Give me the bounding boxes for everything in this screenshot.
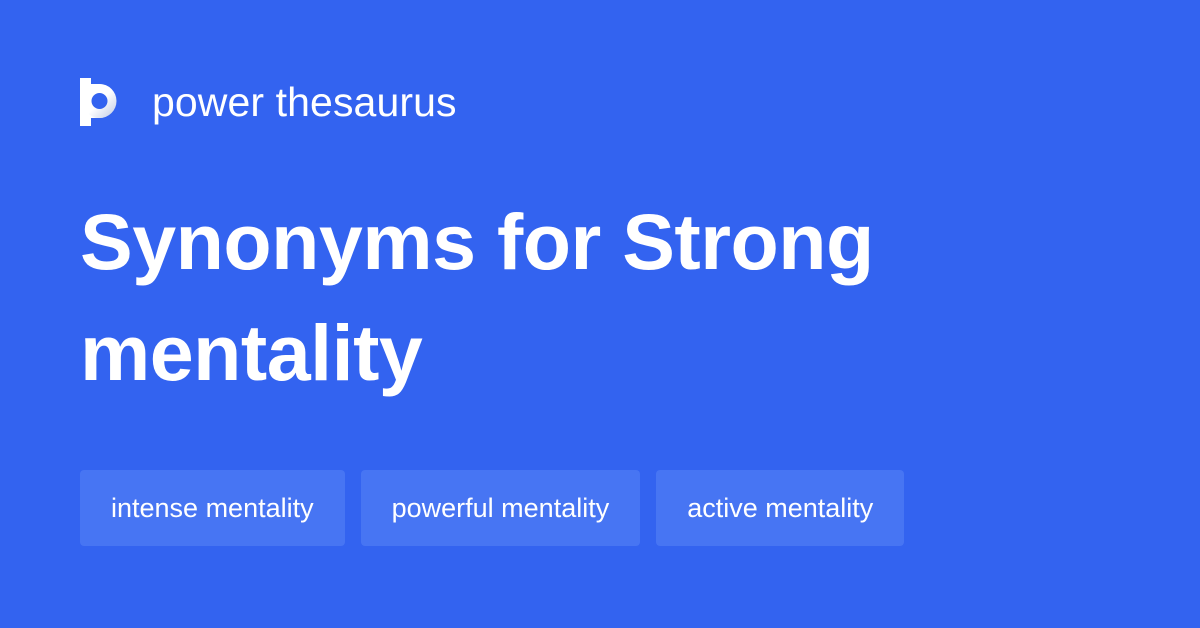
synonym-share-card: power thesaurus Synonyms for Strong ment… — [0, 0, 1200, 628]
synonym-chip[interactable]: active mentality — [656, 470, 904, 546]
synonym-chip[interactable]: powerful mentality — [361, 470, 641, 546]
synonym-chip[interactable]: intense mentality — [80, 470, 345, 546]
page-title: Synonyms for Strong mentality — [80, 186, 1120, 409]
brand-name: power thesaurus — [152, 82, 457, 123]
synonym-chip-list: intense mentality powerful mentality act… — [80, 470, 904, 546]
brand-header[interactable]: power thesaurus — [80, 74, 457, 130]
power-thesaurus-b-logo-icon — [80, 78, 124, 126]
